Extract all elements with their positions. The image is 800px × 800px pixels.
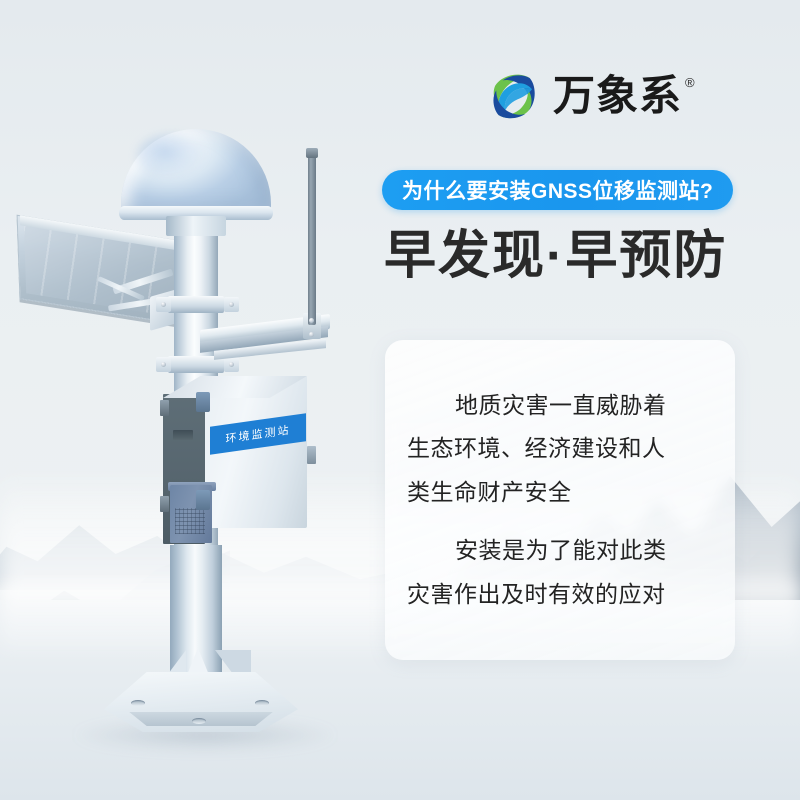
description-line-3: 类生命财产安全 [407,471,713,515]
cabinet-mount-bracket-bottom [196,490,210,510]
whip-antenna-cap [306,148,318,158]
cross-arm-bolt-top [309,318,314,323]
question-banner-text: 为什么要安装GNSS位移监测站? [402,175,713,205]
gnss-monitoring-station-image: 环境监测站 [0,0,400,800]
base-bolt-hole-right [255,700,269,706]
description-line-2: 生态环境、经济建设和人 [407,427,713,471]
cabinet-hinge-bottom [160,496,169,512]
collar-bolt-lower-left [161,362,166,367]
cabinet-vent-slot [173,430,193,440]
collar-bolt-upper-right [229,302,234,307]
gnss-dome-blue-tint [136,133,208,179]
collar-bolt-upper-left [161,302,166,307]
description-line-4: 安装是为了能对此类 [407,529,713,573]
brand-name-text: 万象系 [553,75,682,117]
cross-arm-bolt-bottom [309,332,314,337]
registered-trademark-icon: ® [685,76,695,89]
question-banner: 为什么要安装GNSS位移监测站? [382,170,733,210]
description-card: 地质灾害一直威胁着 生态环境、经济建设和人 类生命财产安全 安装是为了能对此类 … [385,340,735,660]
description-paragraph-gap [407,515,713,529]
cabinet-hinge-top [160,400,169,416]
pole-collar-upper [168,296,224,313]
description-line-1: 地质灾害一直威胁着 [407,384,713,428]
collar-bolt-lower-right [229,362,234,367]
description-line-5: 灾害作出及时有效的应对 [407,573,713,617]
brand-lockup: 万象系 ® [485,68,695,124]
gnss-dome-neck [166,216,226,236]
base-bolt-hole-front [192,718,206,724]
cabinet-nameplate-text: 环境监测站 [226,421,291,446]
content-column: 万象系 ® 为什么要安装GNSS位移监测站? 早发现·早预防 地质灾害一直威胁着… [370,0,800,800]
whip-antenna [308,150,316,325]
swirling-globe-icon [485,68,541,124]
cabinet-drawer-grill [175,508,205,534]
brand-wordmark: 万象系 ® [553,75,695,117]
poster-root: 环境监测站 [0,0,800,800]
page-title: 早发现·早预防 [384,228,727,285]
base-bolt-hole-left [131,700,145,706]
cabinet-mount-bracket-top [196,392,210,412]
cabinet-latch [307,446,316,464]
